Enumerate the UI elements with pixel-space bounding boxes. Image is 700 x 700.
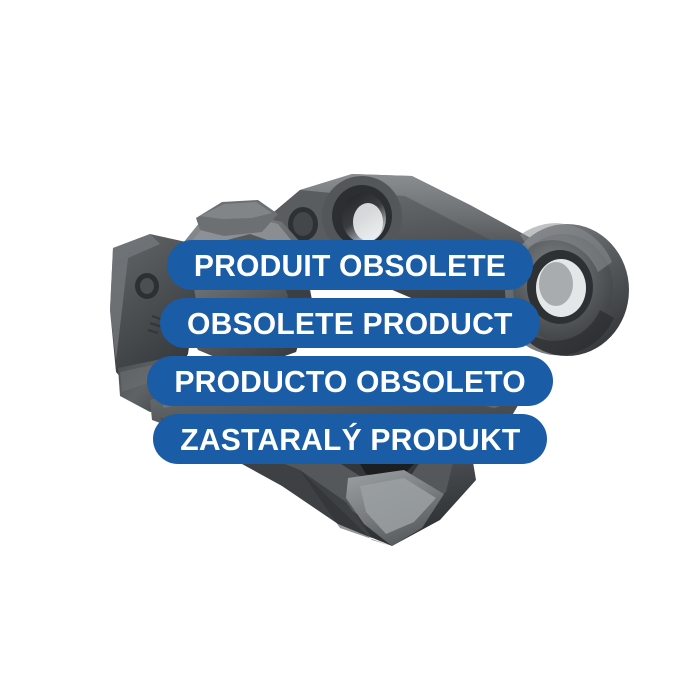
obsolete-badge-en-label: OBSOLETE PRODUCT <box>187 308 513 339</box>
obsolete-badge-fr: PRODUIT OBSOLETE <box>167 240 533 290</box>
obsolete-badge-cs-label: ZASTARALÝ PRODUKT <box>180 424 520 455</box>
product-obsolete-page: PRODUIT OBSOLETE OBSOLETE PRODUCT PRODUC… <box>0 0 700 700</box>
obsolete-badge-cs: ZASTARALÝ PRODUKT <box>153 414 548 464</box>
obsolete-badge-en: OBSOLETE PRODUCT <box>160 298 540 348</box>
obsolete-badge-overlay: PRODUIT OBSOLETE OBSOLETE PRODUCT PRODUC… <box>0 240 700 480</box>
obsolete-badge-es: PRODUCTO OBSOLETO <box>147 356 553 406</box>
obsolete-badge-es-label: PRODUCTO OBSOLETO <box>174 366 525 397</box>
obsolete-badge-fr-label: PRODUIT OBSOLETE <box>194 250 506 281</box>
